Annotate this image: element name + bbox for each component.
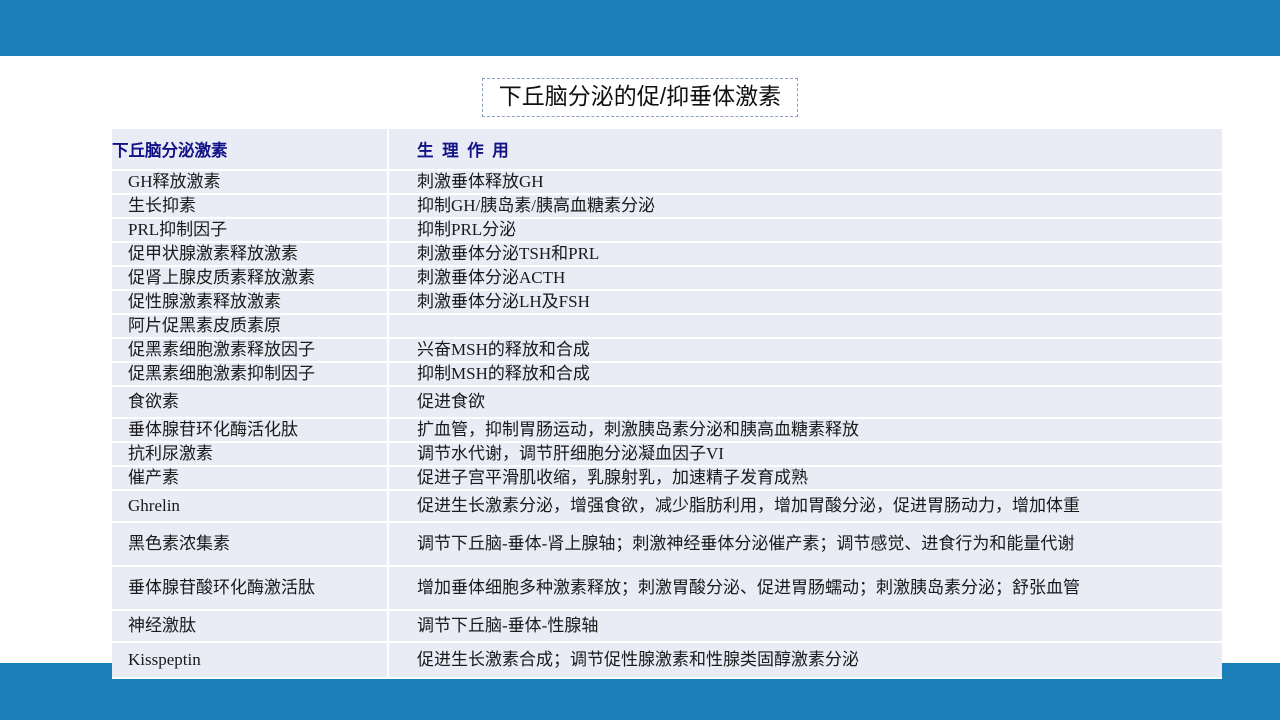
cell-hormone: Ghrelin: [112, 490, 388, 522]
table-row: 促黑素细胞激素抑制因子抑制MSH的释放和合成: [112, 362, 1222, 386]
cell-hormone: GH释放激素: [112, 170, 388, 194]
cell-effect: 促进生长激素合成；调节促性腺激素和性腺类固醇激素分泌: [388, 642, 1222, 678]
cell-effect: 兴奋MSH的释放和合成: [388, 338, 1222, 362]
cell-effect: 增加垂体细胞多种激素释放；刺激胃酸分泌、促进胃肠蠕动；刺激胰岛素分泌；舒张血管: [388, 566, 1222, 610]
cell-effect: 刺激垂体分泌ACTH: [388, 266, 1222, 290]
table-row: 垂体腺苷环化酶活化肽扩血管，抑制胃肠运动，刺激胰岛素分泌和胰高血糖素释放: [112, 418, 1222, 442]
table-header-row: 下丘脑分泌激素 生 理 作 用: [112, 129, 1222, 170]
hormone-table-container: 下丘脑分泌激素 生 理 作 用 GH释放激素刺激垂体释放GH生长抑素抑制GH/胰…: [112, 129, 1222, 679]
cell-effect: 抑制PRL分泌: [388, 218, 1222, 242]
cell-effect: 抑制MSH的释放和合成: [388, 362, 1222, 386]
table-row: 促性腺激素释放激素刺激垂体分泌LH及FSH: [112, 290, 1222, 314]
cell-effect: 促进食欲: [388, 386, 1222, 418]
table-row: 食欲素促进食欲: [112, 386, 1222, 418]
table-row: 抗利尿激素调节水代谢，调节肝细胞分泌凝血因子VI: [112, 442, 1222, 466]
cell-hormone: 促肾上腺皮质素释放激素: [112, 266, 388, 290]
cell-hormone: 垂体腺苷酸环化酶激活肽: [112, 566, 388, 610]
cell-hormone: 催产素: [112, 466, 388, 490]
cell-hormone: 神经激肽: [112, 610, 388, 642]
cell-hormone: 促黑素细胞激素释放因子: [112, 338, 388, 362]
cell-hormone: Kisspeptin: [112, 642, 388, 678]
cell-effect: 刺激垂体分泌TSH和PRL: [388, 242, 1222, 266]
cell-hormone: PRL抑制因子: [112, 218, 388, 242]
table-row: 促黑素细胞激素释放因子兴奋MSH的释放和合成: [112, 338, 1222, 362]
table-body: GH释放激素刺激垂体释放GH生长抑素抑制GH/胰岛素/胰高血糖素分泌PRL抑制因…: [112, 170, 1222, 678]
cell-effect: 促进子宫平滑肌收缩，乳腺射乳，加速精子发育成熟: [388, 466, 1222, 490]
cell-hormone: 促性腺激素释放激素: [112, 290, 388, 314]
cell-effect: 调节下丘脑-垂体-肾上腺轴；刺激神经垂体分泌催产素；调节感觉、进食行为和能量代谢: [388, 522, 1222, 566]
cell-effect: 调节下丘脑-垂体-性腺轴: [388, 610, 1222, 642]
cell-hormone: 食欲素: [112, 386, 388, 418]
slide-title-container: 下丘脑分泌的促/抑垂体激素: [0, 78, 1280, 117]
cell-hormone: 促黑素细胞激素抑制因子: [112, 362, 388, 386]
cell-hormone: 促甲状腺激素释放激素: [112, 242, 388, 266]
cell-effect: 扩血管，抑制胃肠运动，刺激胰岛素分泌和胰高血糖素释放: [388, 418, 1222, 442]
slide-title: 下丘脑分泌的促/抑垂体激素: [482, 78, 798, 117]
table-row: 神经激肽调节下丘脑-垂体-性腺轴: [112, 610, 1222, 642]
table-row: 促甲状腺激素释放激素刺激垂体分泌TSH和PRL: [112, 242, 1222, 266]
column-header-effect: 生 理 作 用: [388, 129, 1222, 170]
cell-effect: 调节水代谢，调节肝细胞分泌凝血因子VI: [388, 442, 1222, 466]
table-row: 黑色素浓集素调节下丘脑-垂体-肾上腺轴；刺激神经垂体分泌催产素；调节感觉、进食行…: [112, 522, 1222, 566]
cell-hormone: 阿片促黑素皮质素原: [112, 314, 388, 338]
table-row: 垂体腺苷酸环化酶激活肽增加垂体细胞多种激素释放；刺激胃酸分泌、促进胃肠蠕动；刺激…: [112, 566, 1222, 610]
cell-hormone: 垂体腺苷环化酶活化肽: [112, 418, 388, 442]
table-row: PRL抑制因子抑制PRL分泌: [112, 218, 1222, 242]
hormone-table: 下丘脑分泌激素 生 理 作 用 GH释放激素刺激垂体释放GH生长抑素抑制GH/胰…: [112, 129, 1222, 679]
table-row: Kisspeptin促进生长激素合成；调节促性腺激素和性腺类固醇激素分泌: [112, 642, 1222, 678]
table-row: 促肾上腺皮质素释放激素刺激垂体分泌ACTH: [112, 266, 1222, 290]
cell-effect: 刺激垂体分泌LH及FSH: [388, 290, 1222, 314]
table-header: 下丘脑分泌激素 生 理 作 用: [112, 129, 1222, 170]
table-row: Ghrelin促进生长激素分泌，增强食欲，减少脂肪利用，增加胃酸分泌，促进胃肠动…: [112, 490, 1222, 522]
table-row: GH释放激素刺激垂体释放GH: [112, 170, 1222, 194]
cell-hormone: 抗利尿激素: [112, 442, 388, 466]
cell-effect: [388, 314, 1222, 338]
top-accent-band: [0, 0, 1280, 56]
cell-effect: 刺激垂体释放GH: [388, 170, 1222, 194]
cell-effect: 促进生长激素分泌，增强食欲，减少脂肪利用，增加胃酸分泌，促进胃肠动力，增加体重: [388, 490, 1222, 522]
table-row: 催产素促进子宫平滑肌收缩，乳腺射乳，加速精子发育成熟: [112, 466, 1222, 490]
column-header-hormone: 下丘脑分泌激素: [112, 129, 388, 170]
cell-hormone: 生长抑素: [112, 194, 388, 218]
table-row: 生长抑素抑制GH/胰岛素/胰高血糖素分泌: [112, 194, 1222, 218]
cell-hormone: 黑色素浓集素: [112, 522, 388, 566]
cell-effect: 抑制GH/胰岛素/胰高血糖素分泌: [388, 194, 1222, 218]
table-row: 阿片促黑素皮质素原: [112, 314, 1222, 338]
